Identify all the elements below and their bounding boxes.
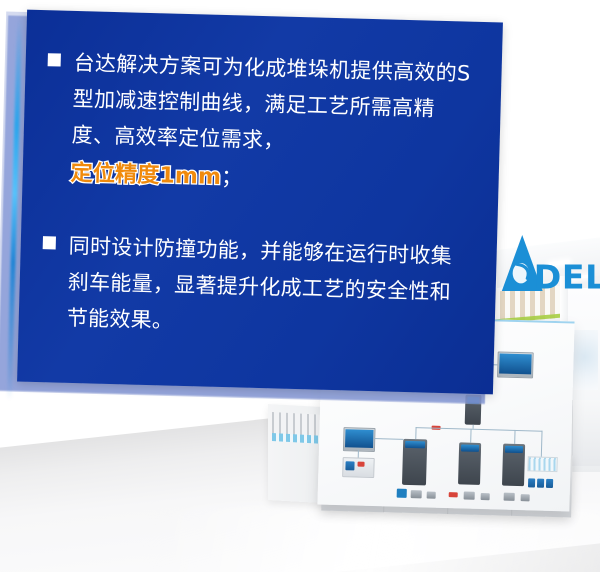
diagram-motor — [464, 492, 475, 500]
svg-text:DELTA: DELTA — [534, 258, 600, 295]
diagram-contactor — [528, 478, 535, 487]
diagram-motor — [481, 493, 490, 500]
diagram-indicator — [357, 462, 364, 467]
highlight-suffix: ； — [221, 165, 243, 190]
highlight-text: 定位精度1mm — [70, 161, 221, 190]
bullet-item: 台达解决方案可为化成堆垛机提供 高效的S型加减速控制曲线，满足工 艺所需高精度、… — [44, 44, 476, 203]
diagram-link — [415, 427, 416, 439]
diagram-drive — [502, 444, 525, 487]
blue-callout-panel: 台达解决方案可为化成堆垛机提供 高效的S型加减速控制曲线，满足工 艺所需高精度、… — [17, 10, 503, 395]
diagram-link — [373, 438, 403, 440]
square-bullet-icon — [48, 53, 61, 66]
diagram-contactor — [537, 479, 544, 488]
diagram-motor — [449, 492, 458, 497]
diagram-motor — [521, 494, 530, 501]
bullet-line: 同时设计防撞功能，并能够在运行时 — [68, 234, 409, 267]
bullet-item: 同时设计防撞功能，并能够在运行时 收集刹车能量，显著提升化成工艺的 安全性和节能… — [40, 227, 471, 347]
diagram-motor — [427, 491, 436, 498]
diagram-motor — [504, 493, 515, 501]
bullet-text: 同时设计防撞功能，并能够在运行时 收集刹车能量，显著提升化成工艺的 安全性和节能… — [66, 228, 471, 347]
diagram-link — [470, 429, 471, 443]
diagram-link — [514, 430, 515, 444]
diagram-hmi — [497, 351, 534, 378]
diagram-link — [358, 450, 359, 458]
diagram-link — [526, 430, 543, 431]
delta-logo: DELTA — [498, 232, 600, 294]
diagram-drive — [402, 439, 427, 486]
diagram-motor — [411, 490, 422, 498]
diagram-link — [473, 425, 474, 429]
far-cabinet — [572, 400, 600, 466]
diagram-controller-port — [345, 461, 354, 470]
diagram-contactor — [546, 479, 553, 488]
diagram-hmi-small — [343, 427, 376, 452]
diagram-motor — [397, 489, 407, 498]
diagram-terminal-block — [527, 456, 557, 472]
diagram-link — [541, 431, 543, 457]
bullet-line: 台达解决方案可为化成堆垛机提供 — [73, 51, 393, 84]
square-bullet-icon — [43, 236, 56, 249]
far-wall-graphic — [572, 330, 598, 390]
diagram-drive — [458, 442, 481, 485]
bullet-text: 台达解决方案可为化成堆垛机提供 高效的S型加减速控制曲线，满足工 艺所需高精度、… — [70, 45, 476, 203]
